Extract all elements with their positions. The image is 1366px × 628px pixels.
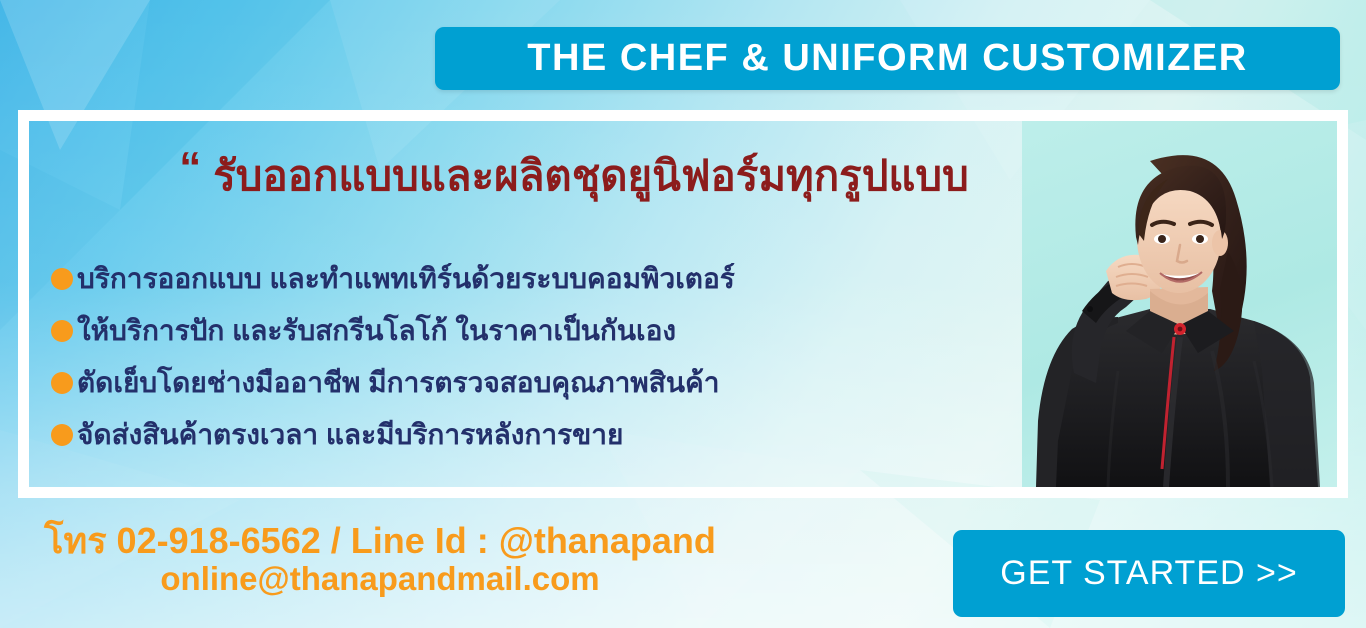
feature-list: บริการออกแบบ และทำแพทเทิร์นด้วยระบบคอมพิ…: [51, 253, 735, 461]
contact-phone-line[interactable]: โทร 02-918-6562 / Line Id : @thanapand: [0, 522, 760, 561]
contact-block: โทร 02-918-6562 / Line Id : @thanapand o…: [0, 522, 760, 597]
get-started-button[interactable]: GET STARTED >>: [953, 530, 1345, 617]
quote-open-mark: “: [179, 143, 201, 192]
headline: “รับออกแบบและผลิตชุดยูนิฟอร์มทุกรูปแบบ: [29, 143, 1119, 209]
list-item: ให้บริการปัก และรับสกรีนโลโก้ ในราคาเป็น…: [51, 305, 735, 357]
promo-banner: THE CHEF & UNIFORM CUSTOMIZER “รับออกแบบ…: [0, 0, 1366, 628]
list-item: จัดส่งสินค้าตรงเวลา และมีบริการหลังการขา…: [51, 409, 735, 461]
bullet-dot-icon: [51, 320, 73, 342]
list-item-label: จัดส่งสินค้าตรงเวลา และมีบริการหลังการขา…: [77, 413, 623, 457]
list-item: ตัดเย็บโดยช่างมืออาชีพ มีการตรวจสอบคุณภา…: [51, 357, 735, 409]
headline-text: รับออกแบบและผลิตชุดยูนิฟอร์มทุกรูปแบบ: [213, 152, 969, 199]
contact-email-line[interactable]: online@thanapandmail.com: [0, 561, 760, 597]
list-item: บริการออกแบบ และทำแพทเทิร์นด้วยระบบคอมพิ…: [51, 253, 735, 305]
bullet-dot-icon: [51, 268, 73, 290]
content-card-frame: “รับออกแบบและผลิตชุดยูนิฟอร์มทุกรูปแบบ ”…: [18, 110, 1348, 498]
bullet-dot-icon: [51, 424, 73, 446]
content-card-inner: “รับออกแบบและผลิตชุดยูนิฟอร์มทุกรูปแบบ ”…: [29, 121, 1337, 487]
list-item-label: ให้บริการปัก และรับสกรีนโลโก้ ในราคาเป็น…: [77, 309, 676, 353]
bullet-dot-icon: [51, 372, 73, 394]
list-item-label: ตัดเย็บโดยช่างมืออาชีพ มีการตรวจสอบคุณภา…: [77, 361, 719, 405]
banner-title-bar: THE CHEF & UNIFORM CUSTOMIZER: [435, 27, 1340, 90]
list-item-label: บริการออกแบบ และทำแพทเทิร์นด้วยระบบคอมพิ…: [77, 257, 735, 301]
model-photo: [1022, 121, 1337, 487]
page-title: THE CHEF & UNIFORM CUSTOMIZER: [527, 37, 1247, 80]
